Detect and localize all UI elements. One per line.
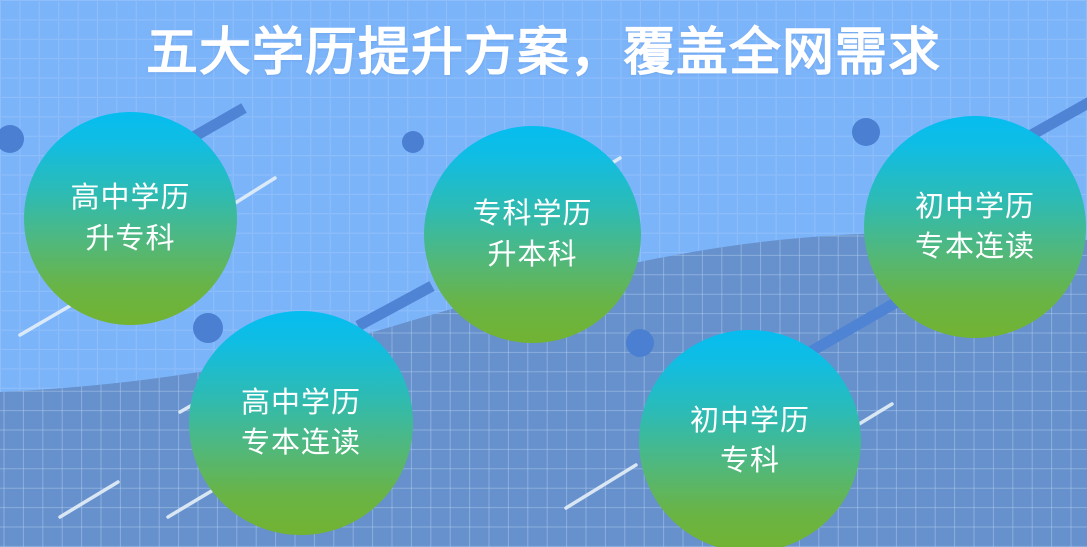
poster-root: 五大学历提升方案，覆盖全网需求 高中学历 升专科 高中学历 专本连读 专科学历 … <box>0 0 1087 547</box>
bubble-line-1: 初中学历 <box>690 401 810 441</box>
bubble-chuzhong-zhuanbenliandu[interactable]: 初中学历 专本连读 <box>864 116 1086 338</box>
bubble-line-1: 初中学历 <box>915 187 1035 227</box>
bubble-line-1: 专科学历 <box>472 194 592 234</box>
bubble-chuzhong-zhuanke[interactable]: 初中学历 专科 <box>639 330 861 547</box>
bubble-line-1: 高中学历 <box>241 383 361 423</box>
bubble-line-2: 升本科 <box>487 235 577 275</box>
bubble-zhuanke-benke[interactable]: 专科学历 升本科 <box>424 126 641 343</box>
bubble-line-2: 专本连读 <box>241 423 361 463</box>
bubble-line-2: 升专科 <box>85 219 175 259</box>
bubble-line-2: 专科 <box>720 441 780 481</box>
bubble-gaozhong-zhuanbenliandu[interactable]: 高中学历 专本连读 <box>189 311 413 535</box>
bubble-line-1: 高中学历 <box>70 178 190 218</box>
bubble-gaozhong-zhuanke[interactable]: 高中学历 升专科 <box>24 112 237 325</box>
bubble-line-2: 专本连读 <box>915 227 1035 267</box>
page-title: 五大学历提升方案，覆盖全网需求 <box>0 22 1087 84</box>
